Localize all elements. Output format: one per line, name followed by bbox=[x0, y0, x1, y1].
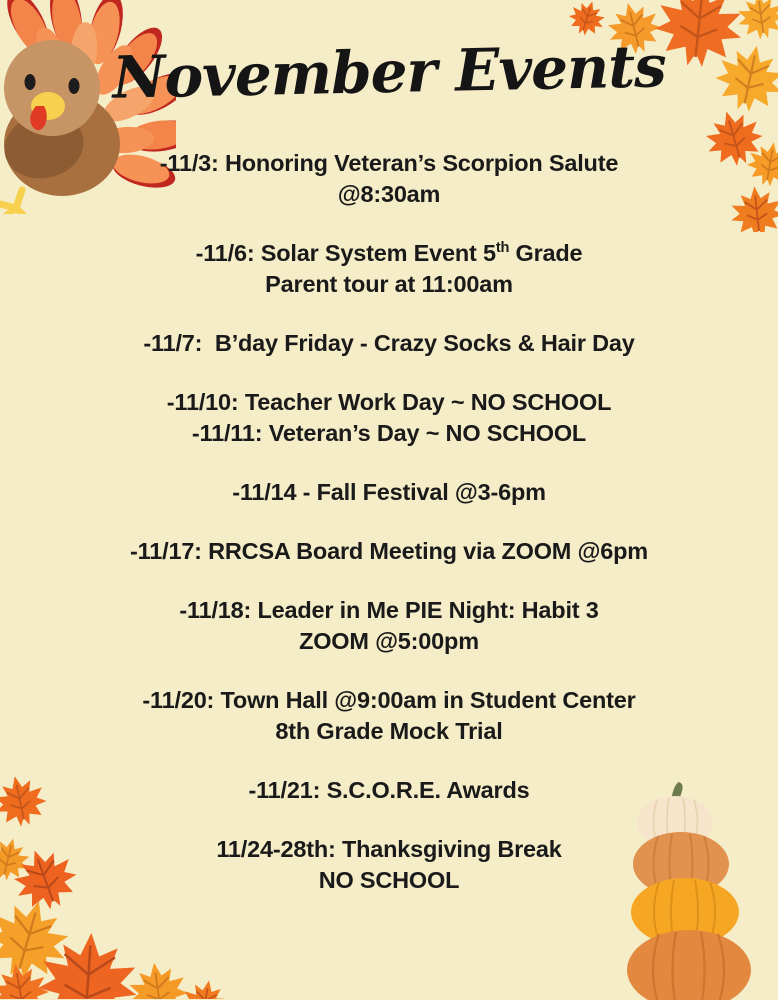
event-line: -11/7: B’day Friday - Crazy Socks & Hair… bbox=[62, 328, 716, 359]
event-line: 8th Grade Mock Trial bbox=[62, 716, 716, 747]
event-11-14: -11/14 - Fall Festival @3-6pm bbox=[62, 477, 716, 508]
event-line: -11/10: Teacher Work Day ~ NO SCHOOL bbox=[62, 387, 716, 418]
event-11-3: -11/3: Honoring Veteran’s Scorpion Salut… bbox=[62, 148, 716, 210]
event-line: Parent tour at 11:00am bbox=[62, 269, 716, 300]
event-11-24-28: 11/24-28th: Thanksgiving BreakNO SCHOOL bbox=[62, 834, 716, 896]
event-line: -11/11: Veteran’s Day ~ NO SCHOOL bbox=[62, 418, 716, 449]
event-line: -11/20: Town Hall @9:00am in Student Cen… bbox=[62, 685, 716, 716]
event-line: ZOOM @5:00pm bbox=[62, 626, 716, 657]
event-line: NO SCHOOL bbox=[62, 865, 716, 896]
event-11-21: -11/21: S.C.O.R.E. Awards bbox=[62, 775, 716, 806]
event-line: -11/14 - Fall Festival @3-6pm bbox=[62, 477, 716, 508]
event-line: -11/6: Solar System Event 5th Grade bbox=[62, 238, 716, 269]
event-line: 11/24-28th: Thanksgiving Break bbox=[62, 834, 716, 865]
event-line: -11/17: RRCSA Board Meeting via ZOOM @6p… bbox=[62, 536, 716, 567]
event-11-7: -11/7: B’day Friday - Crazy Socks & Hair… bbox=[62, 328, 716, 359]
event-11-20: -11/20: Town Hall @9:00am in Student Cen… bbox=[62, 685, 716, 747]
november-events-flyer: November Events -11/3: Honoring Veteran’… bbox=[0, 0, 778, 1000]
events-list: -11/3: Honoring Veteran’s Scorpion Salut… bbox=[62, 148, 716, 924]
event-11-10-11: -11/10: Teacher Work Day ~ NO SCHOOL-11/… bbox=[62, 387, 716, 449]
event-line: -11/21: S.C.O.R.E. Awards bbox=[62, 775, 716, 806]
event-line: @8:30am bbox=[62, 179, 716, 210]
event-line: -11/18: Leader in Me PIE Night: Habit 3 bbox=[62, 595, 716, 626]
event-11-18: -11/18: Leader in Me PIE Night: Habit 3Z… bbox=[62, 595, 716, 657]
ordinal-suffix: th bbox=[496, 240, 509, 256]
event-11-6: -11/6: Solar System Event 5th GradeParen… bbox=[62, 238, 716, 300]
event-line-tail: Grade bbox=[509, 240, 582, 266]
event-11-17: -11/17: RRCSA Board Meeting via ZOOM @6p… bbox=[62, 536, 716, 567]
page-title: November Events bbox=[0, 30, 778, 114]
event-line: -11/3: Honoring Veteran’s Scorpion Salut… bbox=[62, 148, 716, 179]
